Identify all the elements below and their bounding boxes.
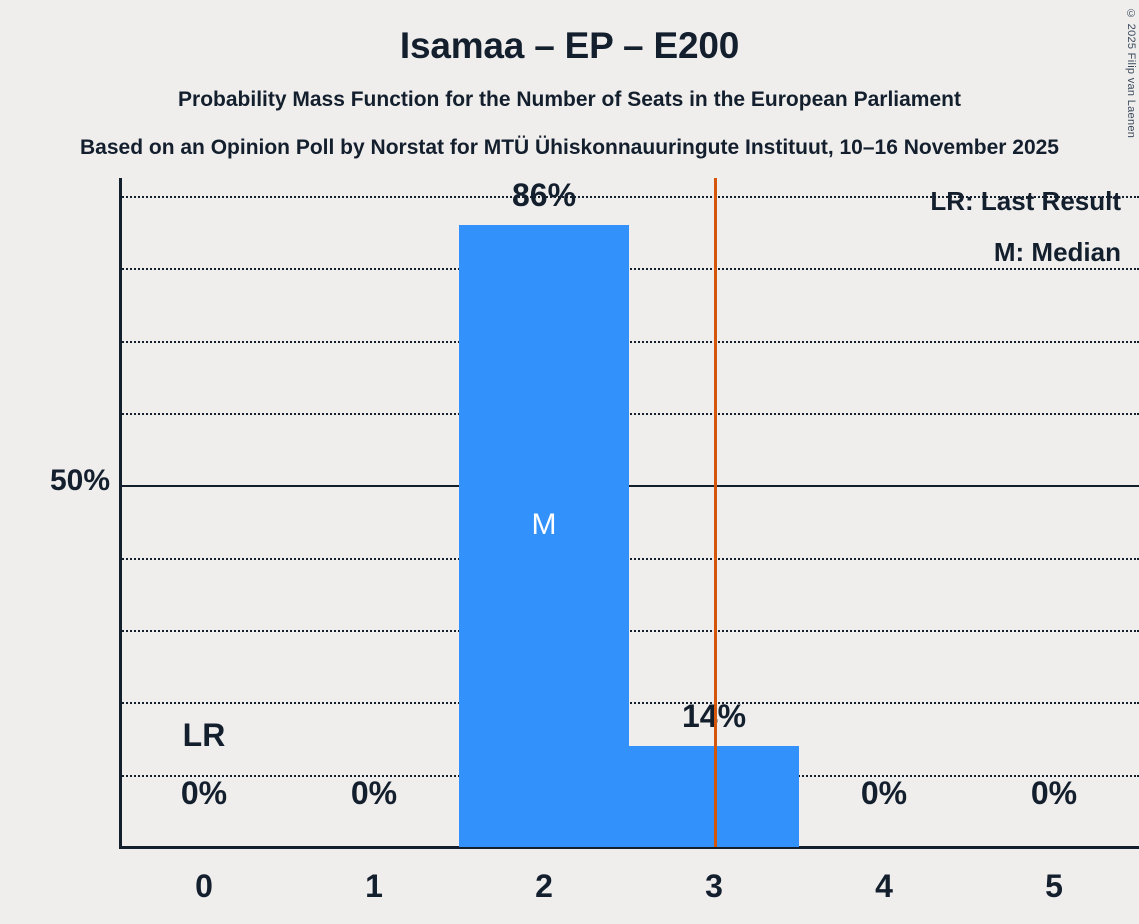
x-tick-label: 3 [629,868,799,905]
last-result-line [714,178,717,847]
legend-item-last-result: LR: Last Result [930,186,1121,217]
gridline-major [119,485,1139,487]
last-result-marker: LR [119,717,289,754]
chart-legend: LR: Last Result M: Median [930,186,1121,288]
x-tick-label: 0 [119,868,289,905]
chart-subtitle: Probability Mass Function for the Number… [0,88,1139,112]
chart-source-line: Based on an Opinion Poll by Norstat for … [0,136,1139,160]
bar-value-label: 0% [799,775,969,812]
copyright-notice: © 2025 Filip van Laenen [1125,8,1137,138]
y-tick-label: 50% [0,464,110,498]
median-marker: M [459,508,629,542]
bar-value-label: 0% [119,775,289,812]
chart-header: Isamaa – EP – E200 Probability Mass Func… [0,0,1139,178]
bar-value-label: 0% [289,775,459,812]
x-tick-label: 1 [289,868,459,905]
gridline [119,341,1139,343]
gridline [119,630,1139,632]
bar-value-label: 0% [969,775,1139,812]
x-tick-label: 4 [799,868,969,905]
legend-item-median: M: Median [930,237,1121,268]
bar-value-label: 86% [459,177,629,214]
x-tick-label: 5 [969,868,1139,905]
x-tick-label: 2 [459,868,629,905]
gridline [119,558,1139,560]
gridline [119,413,1139,415]
bar[interactable]: M [459,225,629,847]
page-title: Isamaa – EP – E200 [0,25,1139,67]
